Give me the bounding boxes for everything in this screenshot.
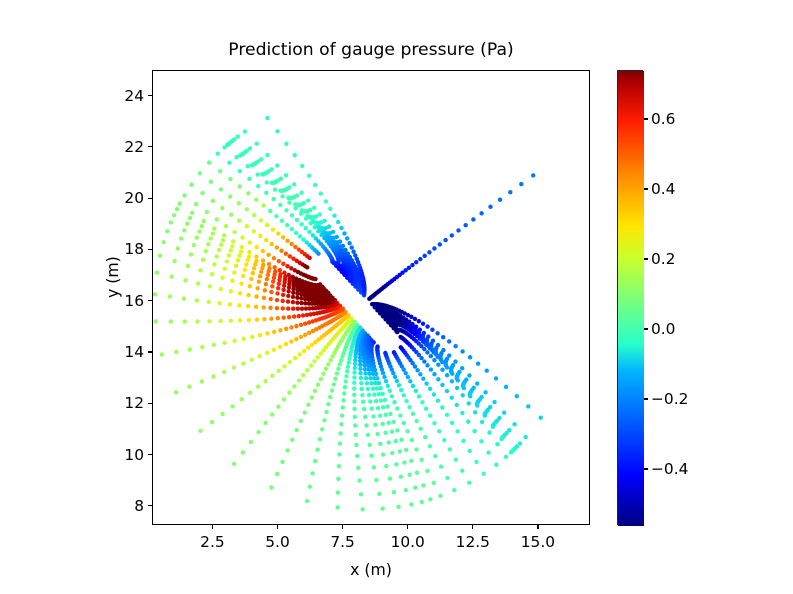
y-tick-mark — [148, 95, 152, 96]
x-tick-label: 7.5 — [330, 533, 354, 551]
y-axis-label: y (m) — [103, 256, 122, 298]
x-tick-label: 12.5 — [456, 533, 490, 551]
colorbar[interactable] — [617, 70, 643, 525]
colorbar-tick-label: −0.2 — [651, 390, 688, 408]
x-tick-mark — [212, 525, 213, 529]
y-tick-label: 20 — [94, 189, 144, 207]
y-tick-label: 10 — [94, 446, 144, 464]
x-tick-mark — [342, 525, 343, 529]
colorbar-tick-label: 0.2 — [651, 250, 675, 268]
x-tick-mark — [277, 525, 278, 529]
x-tick-label: 15.0 — [521, 533, 555, 551]
y-tick-mark — [148, 249, 152, 250]
y-tick-label: 22 — [94, 138, 144, 156]
colorbar-gradient — [618, 71, 644, 526]
figure-canvas: Prediction of gauge pressure (Pa) 810121… — [0, 0, 793, 594]
y-tick-mark — [148, 505, 152, 506]
colorbar-tick-mark — [644, 398, 648, 399]
page-title: Prediction of gauge pressure (Pa) — [152, 40, 590, 60]
colorbar-tick-mark — [644, 328, 648, 329]
plot-axes[interactable] — [152, 70, 590, 525]
y-tick-mark — [148, 454, 152, 455]
colorbar-tick-label: 0.6 — [651, 110, 675, 128]
y-tick-mark — [148, 146, 152, 147]
y-tick-label: 8 — [94, 497, 144, 515]
y-tick-mark — [148, 351, 152, 352]
y-tick-label: 14 — [94, 343, 144, 361]
x-axis-label: x (m) — [152, 560, 590, 579]
colorbar-tick-mark — [644, 118, 648, 119]
colorbar-tick-mark — [644, 188, 648, 189]
colorbar-tick-label: 0.0 — [651, 320, 675, 338]
y-tick-label: 24 — [94, 87, 144, 105]
x-tick-label: 5.0 — [265, 533, 289, 551]
x-tick-label: 2.5 — [200, 533, 224, 551]
scatter-plot — [153, 71, 590, 525]
colorbar-tick-mark — [644, 258, 648, 259]
x-tick-mark — [537, 525, 538, 529]
colorbar-tick-label: −0.4 — [651, 460, 688, 478]
colorbar-tick-mark — [644, 468, 648, 469]
y-tick-mark — [148, 300, 152, 301]
x-tick-mark — [407, 525, 408, 529]
y-tick-mark — [148, 403, 152, 404]
x-tick-mark — [472, 525, 473, 529]
y-tick-mark — [148, 198, 152, 199]
colorbar-tick-label: 0.4 — [651, 180, 675, 198]
x-tick-label: 10.0 — [391, 533, 425, 551]
y-tick-label: 12 — [94, 394, 144, 412]
